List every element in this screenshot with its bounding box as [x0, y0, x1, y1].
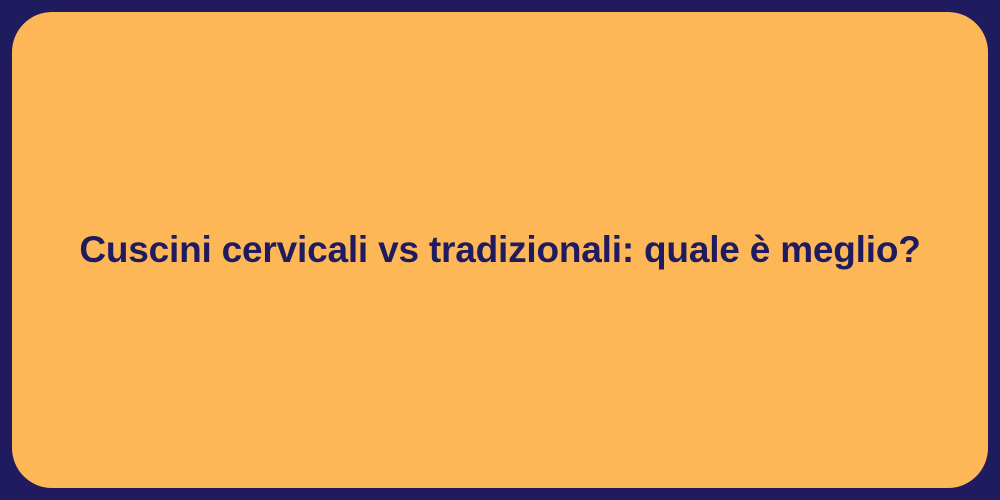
title-card: Cuscini cervicali vs tradizionali: quale…: [12, 12, 988, 488]
page-title: Cuscini cervicali vs tradizionali: quale…: [39, 227, 960, 273]
outer-frame: Cuscini cervicali vs tradizionali: quale…: [0, 0, 1000, 500]
